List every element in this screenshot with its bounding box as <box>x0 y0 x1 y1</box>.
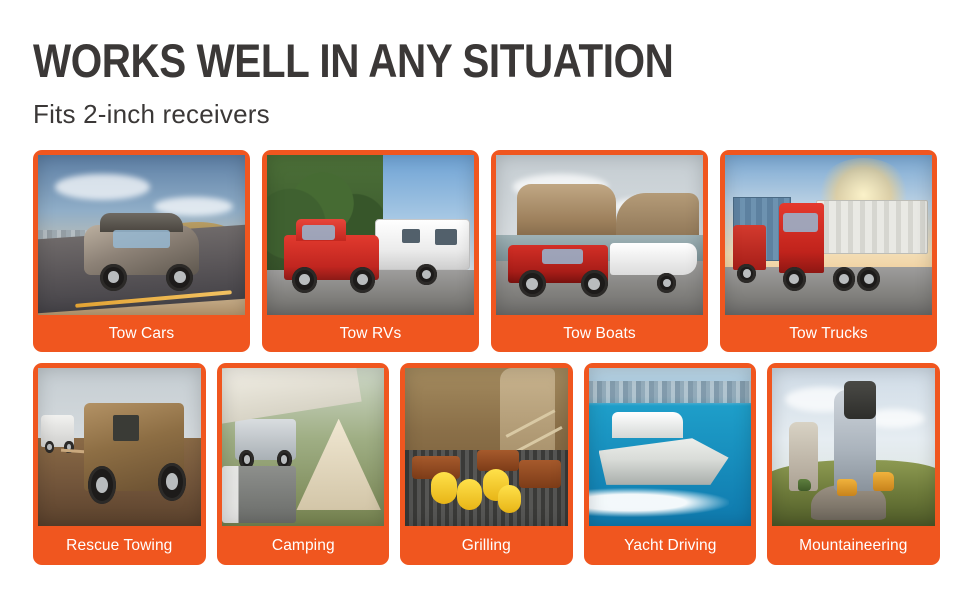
feature-caption-yacht-driving: Yacht Driving <box>591 526 749 565</box>
feature-image-tow-trucks <box>725 155 932 315</box>
feature-image-tow-rvs <box>267 155 474 315</box>
feature-card-yacht-driving[interactable]: Yacht Driving <box>584 363 757 565</box>
feature-image-tow-cars <box>38 155 245 315</box>
page-title: WORKS WELL IN ANY SITUATION <box>33 36 673 86</box>
feature-caption-tow-boats: Tow Boats <box>499 315 700 352</box>
feature-card-grilling[interactable]: Grilling <box>400 363 573 565</box>
page-subtitle: Fits 2-inch receivers <box>33 98 270 130</box>
feature-caption-grilling: Grilling <box>408 526 566 565</box>
feature-image-tow-boats <box>496 155 703 315</box>
feature-card-tow-cars[interactable]: Tow Cars <box>33 150 250 352</box>
feature-card-row-1: Tow Cars Tow RVs <box>33 150 937 352</box>
feature-image-mountaineering <box>772 368 935 526</box>
feature-image-rescue-towing <box>38 368 201 526</box>
feature-card-tow-rvs[interactable]: Tow RVs <box>262 150 479 352</box>
feature-caption-tow-cars: Tow Cars <box>41 315 242 352</box>
feature-image-grilling <box>405 368 568 526</box>
promo-banner: WORKS WELL IN ANY SITUATION Fits 2-inch … <box>0 0 970 600</box>
feature-caption-tow-rvs: Tow RVs <box>270 315 471 352</box>
feature-card-tow-boats[interactable]: Tow Boats <box>491 150 708 352</box>
feature-card-mountaineering[interactable]: Mountaineering <box>767 363 940 565</box>
feature-image-camping <box>222 368 385 526</box>
feature-caption-mountaineering: Mountaineering <box>775 526 933 565</box>
feature-card-camping[interactable]: Camping <box>217 363 390 565</box>
feature-caption-tow-trucks: Tow Trucks <box>728 315 929 352</box>
feature-caption-rescue-towing: Rescue Towing <box>40 526 198 565</box>
feature-card-tow-trucks[interactable]: Tow Trucks <box>720 150 937 352</box>
feature-card-row-2: Rescue Towing Camping <box>33 363 940 565</box>
feature-image-yacht-driving <box>589 368 752 526</box>
feature-card-rescue-towing[interactable]: Rescue Towing <box>33 363 206 565</box>
feature-caption-camping: Camping <box>224 526 382 565</box>
